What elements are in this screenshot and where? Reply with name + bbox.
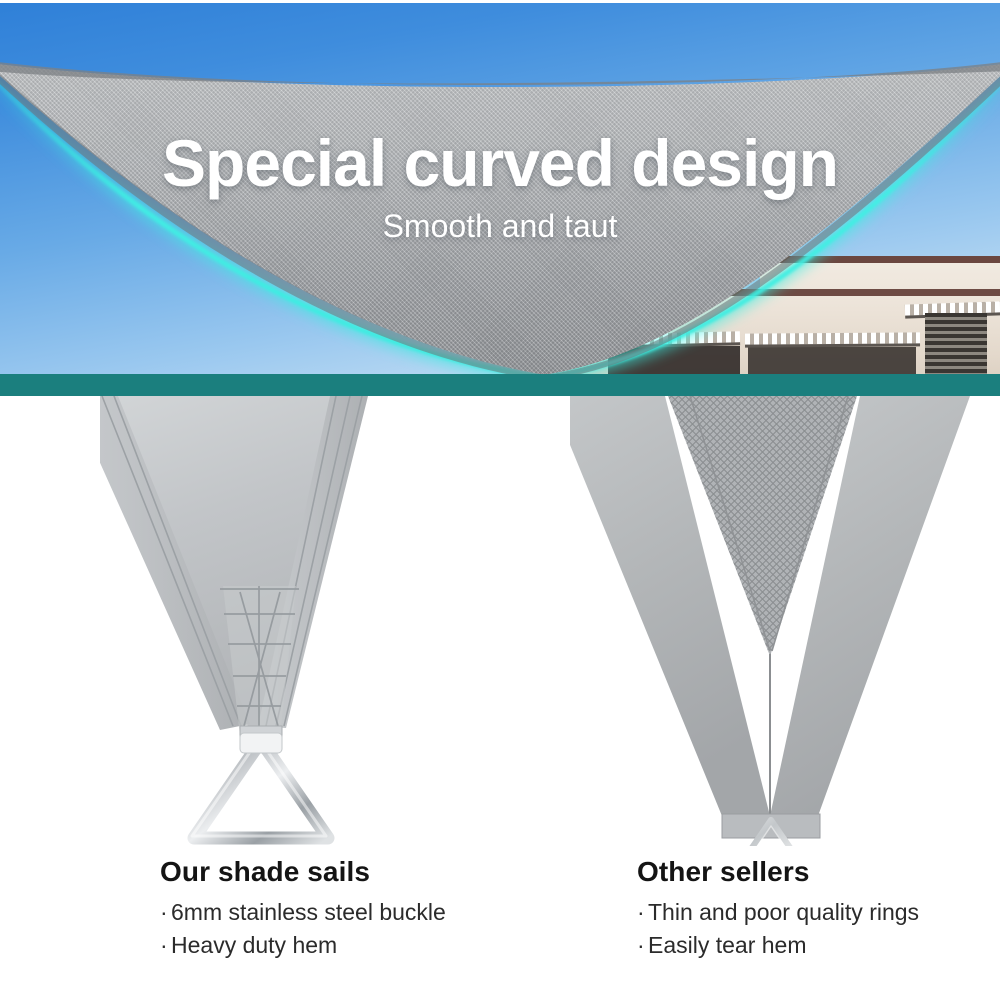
bullet-glyph: · xyxy=(160,896,171,929)
caption-title-left: Our shade sails xyxy=(160,856,580,888)
caption-title-right: Other sellers xyxy=(637,856,1000,888)
feature-text: Heavy duty hem xyxy=(171,932,337,958)
buckle-sleeve xyxy=(240,733,282,753)
feature-text: 6mm stainless steel buckle xyxy=(171,899,446,925)
feature-text: Thin and poor quality rings xyxy=(648,899,919,925)
list-item: ·Heavy duty hem xyxy=(160,929,580,962)
bullet-glyph: · xyxy=(637,896,648,929)
stainless-steel-buckle xyxy=(192,733,328,838)
bullet-glyph: · xyxy=(637,929,648,962)
feature-text: Easily tear hem xyxy=(648,932,807,958)
teal-divider xyxy=(0,374,1000,396)
caption-our-shade-sails: Our shade sails ·6mm stainless steel buc… xyxy=(160,856,580,961)
product-infographic: Special curved design Smooth and taut xyxy=(0,0,1000,1000)
our-shade-sail-illustration xyxy=(100,396,560,846)
feature-list-left: ·6mm stainless steel buckle ·Heavy duty … xyxy=(160,896,580,961)
list-item: ·Easily tear hem xyxy=(637,929,1000,962)
hero-subheadline: Smooth and taut xyxy=(0,208,1000,245)
feature-list-right: ·Thin and poor quality rings ·Easily tea… xyxy=(637,896,1000,961)
list-item: ·6mm stainless steel buckle xyxy=(160,896,580,929)
hero-banner: Special curved design Smooth and taut xyxy=(0,3,1000,395)
list-item: ·Thin and poor quality rings xyxy=(637,896,1000,929)
hero-headline: Special curved design xyxy=(0,125,1000,201)
bullet-glyph: · xyxy=(160,929,171,962)
caption-other-sellers: Other sellers ·Thin and poor quality rin… xyxy=(637,856,1000,961)
other-sellers-sail-illustration xyxy=(570,396,1000,846)
